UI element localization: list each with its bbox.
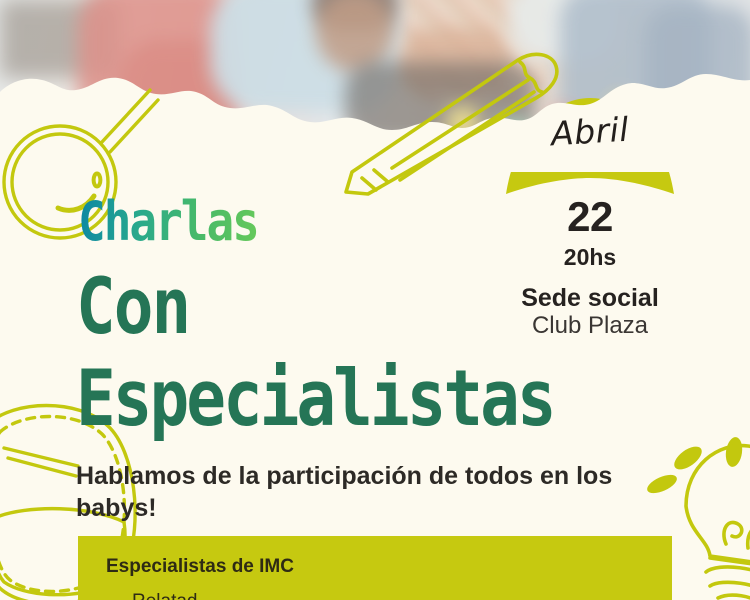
event-venue-club: Club Plaza bbox=[470, 313, 710, 338]
headline-con: Con bbox=[76, 268, 189, 346]
specialists-panel-subitem: Relatad bbox=[132, 591, 672, 600]
subtitle-text: Hablamos de la participación de todos en… bbox=[76, 460, 678, 524]
specialists-panel: Especialistas de IMC Relatad bbox=[78, 536, 672, 600]
event-venue-name: Sede social bbox=[470, 285, 710, 311]
headline-especialistas: Especialistas bbox=[76, 360, 554, 438]
specialists-panel-title: Especialistas de IMC bbox=[106, 556, 672, 579]
event-details: 22 20hs Sede social Club Plaza bbox=[470, 196, 710, 338]
headline-charlas: Charlas bbox=[78, 194, 258, 248]
poster-root: Abril bbox=[0, 0, 750, 600]
event-day: 22 bbox=[470, 196, 710, 238]
event-time: 20hs bbox=[470, 246, 710, 269]
